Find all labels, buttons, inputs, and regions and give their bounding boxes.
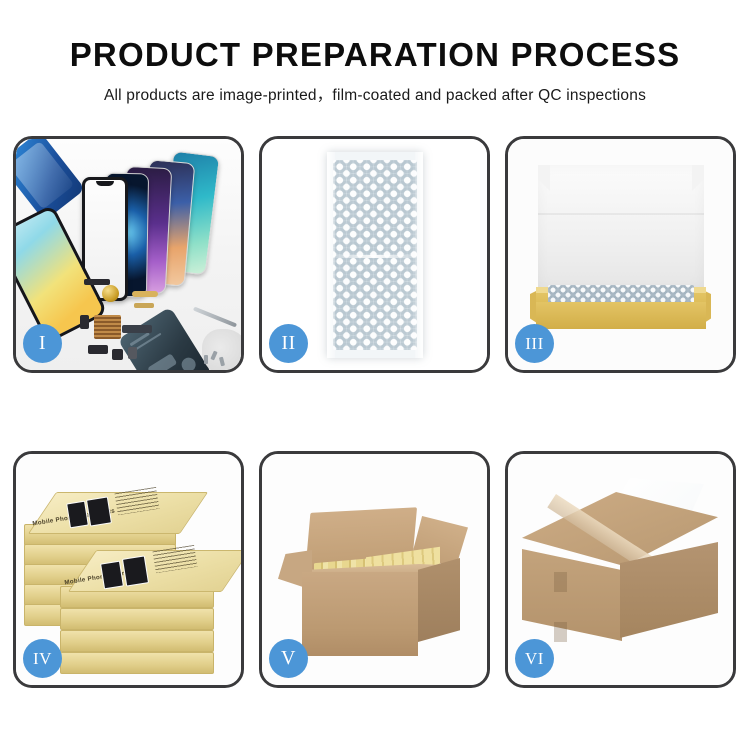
retail-box <box>60 630 214 652</box>
step-numeral: I <box>39 333 46 354</box>
step-badge-3: III <box>515 324 554 363</box>
process-step-6: VI <box>505 451 736 688</box>
flex-cable-icon <box>134 303 154 308</box>
step-badge-1: I <box>23 324 62 363</box>
page-subtitle: All products are image-printed，film-coat… <box>0 71 750 104</box>
small-part-icon <box>84 279 110 285</box>
box-artwork-image <box>122 555 149 586</box>
box-front-face <box>536 302 706 329</box>
retail-box <box>60 608 214 630</box>
connector-grid-icon <box>94 315 121 339</box>
process-step-5: V <box>259 451 490 688</box>
carton-hand-hole <box>554 572 567 592</box>
box-artwork-image <box>86 496 112 526</box>
step-badge-2: II <box>269 324 308 363</box>
step-badge-5: V <box>269 639 308 678</box>
box-lid-icon <box>538 165 704 289</box>
step-badge-4: IV <box>23 639 62 678</box>
carton-hand-hole <box>554 622 567 642</box>
page-title: PRODUCT PREPARATION PROCESS <box>0 0 750 71</box>
step-badge-6: VI <box>515 639 554 678</box>
small-part-icon <box>88 345 108 354</box>
process-step-3: III <box>505 136 736 373</box>
battery-connector-icon <box>122 325 152 333</box>
speaker-coil-icon <box>102 285 119 302</box>
step-numeral: III <box>525 335 543 353</box>
screw-icon <box>204 355 208 364</box>
bubble-wrap-pouch-icon <box>327 152 423 358</box>
process-step-grid: I II <box>0 136 750 688</box>
header: PRODUCT PREPARATION PROCESS All products… <box>0 0 750 104</box>
step-numeral: IV <box>33 650 52 668</box>
step-numeral: VI <box>525 650 544 668</box>
process-step-2: II <box>259 136 490 373</box>
step-numeral: V <box>281 648 296 669</box>
small-part-icon <box>112 349 123 360</box>
box-artwork-image <box>66 501 89 529</box>
carton-front-face <box>302 572 418 656</box>
process-step-1: I <box>13 136 244 373</box>
process-step-4: Mobile Phone Spare Parts Mobile Phone Sp… <box>13 451 244 688</box>
small-part-icon <box>80 315 89 329</box>
box-artwork-image <box>100 561 124 590</box>
small-part-icon <box>128 347 137 359</box>
step-numeral: II <box>281 333 295 354</box>
product-preparation-infographic: PRODUCT PREPARATION PROCESS All products… <box>0 0 750 750</box>
carton-side-face <box>418 558 460 642</box>
retail-box <box>60 652 214 674</box>
flex-cable-icon <box>132 291 158 297</box>
box-lid-fold <box>538 213 704 215</box>
pouch-seam <box>331 255 419 258</box>
